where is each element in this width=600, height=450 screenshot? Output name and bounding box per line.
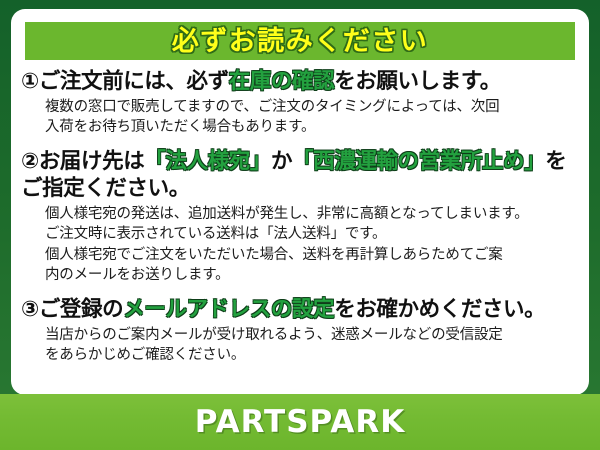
item-3-heading-text-before: ご登録の [39, 297, 123, 322]
brand-logo-text: PARTSPARK [195, 407, 406, 438]
notice-card: 必ずお読みください ①ご注文前には、必ず在庫の確認をお願いします。 複数の窓口で… [11, 9, 589, 395]
item-2-number: ② [21, 149, 39, 174]
notice-item-3: ③ご登録のメールアドレスの設定をお確かめください。 当店からのご案内メールが受け… [21, 296, 581, 366]
notice-item-2: ②お届け先は「法人様宛」か「西濃運輸の営業所止め」をご指定ください。 個人様宅宛… [21, 148, 581, 286]
item-1-heading-highlight: 在庫の確認 [229, 69, 335, 94]
item-3-heading-highlight: メールアドレスの設定 [123, 297, 334, 322]
item-1-heading: ①ご注文前には、必ず在庫の確認をお願いします。 [21, 68, 581, 96]
item-2-heading-highlight-corporate: 「法人様宛」 [144, 149, 271, 174]
item-1-heading-text-before: ご注文前には、必ず [39, 69, 229, 94]
item-2-body: 個人様宅宛の発送は、追加送料が発生し、非常に高額となってしまいます。 ご注文時に… [45, 204, 581, 286]
item-3-body: 当店からのご案内メールが受け取れるよう、迷惑メールなどの受信設定 をあらかじめご… [45, 325, 581, 366]
item-3-heading-text-after: をお確かめください。 [334, 297, 545, 322]
item-3-heading: ③ご登録のメールアドレスの設定をお確かめください。 [21, 296, 581, 324]
notice-item-1: ①ご注文前には、必ず在庫の確認をお願いします。 複数の窓口で販売してますので、ご… [21, 68, 581, 138]
item-2-heading-highlight-seino: 「西濃運輸の営業所止め」 [292, 149, 545, 174]
notice-banner: 必ずお読みください ①ご注文前には、必ず在庫の確認をお願いします。 複数の窓口で… [0, 0, 600, 450]
notice-body: ①ご注文前には、必ず在庫の確認をお願いします。 複数の窓口で販売してますので、ご… [11, 66, 589, 368]
item-2-heading-text-before: お届け先は [39, 149, 145, 174]
item-1-body: 複数の窓口で販売してますので、ご注文のタイミングによっては、次回 入荷をお待ち頂… [45, 97, 581, 138]
title-bar: 必ずお読みください [25, 22, 575, 60]
item-3-number: ③ [21, 297, 39, 322]
item-1-heading-text-after: をお願いします。 [334, 69, 501, 94]
item-2-heading: ②お届け先は「法人様宛」か「西濃運輸の営業所止め」をご指定ください。 [21, 148, 581, 203]
page-title: 必ずお読みください [172, 28, 429, 55]
item-2-heading-text-mid: か [271, 149, 292, 174]
footer-brand-bar: PARTSPARK [0, 394, 600, 450]
item-1-number: ① [21, 69, 39, 94]
